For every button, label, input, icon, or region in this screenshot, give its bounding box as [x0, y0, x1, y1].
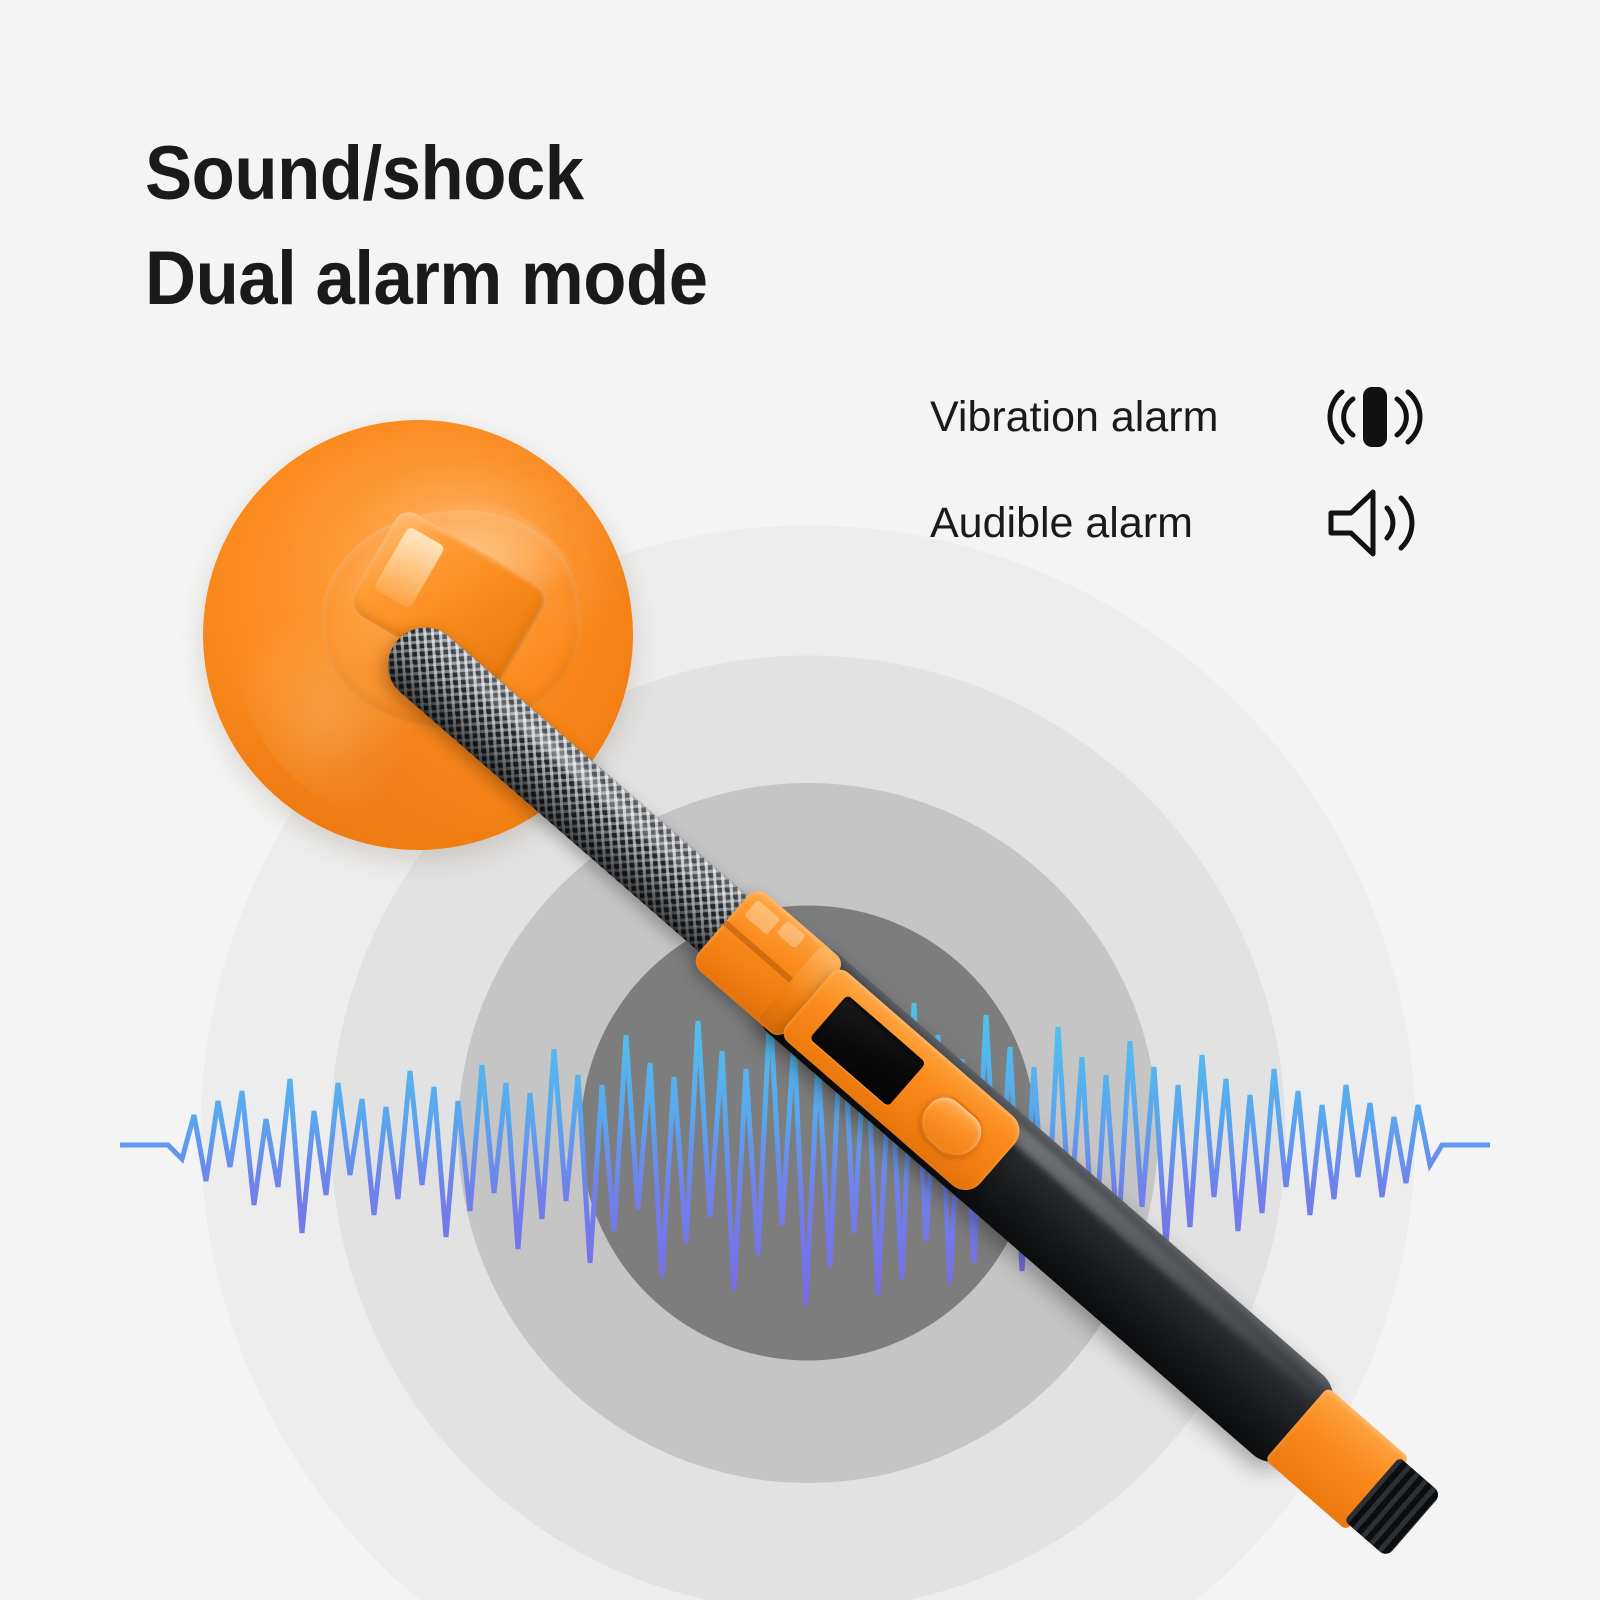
- feature-row-vibration: Vibration alarm: [930, 378, 1430, 456]
- speaker-icon: [1320, 484, 1430, 562]
- feature-label-audible: Audible alarm: [930, 499, 1320, 548]
- collar-notch-2: [777, 920, 806, 949]
- power-button[interactable]: [910, 1087, 993, 1168]
- headline-line-2: Dual alarm mode: [145, 227, 708, 332]
- feature-row-audible: Audible alarm: [930, 484, 1430, 562]
- page-title: Sound/shock Dual alarm mode: [145, 122, 708, 332]
- product-feature-banner: Sound/shock Dual alarm mode Vibration al…: [0, 0, 1600, 1600]
- feature-label-vibration: Vibration alarm: [930, 393, 1320, 442]
- feature-list: Vibration alarm Audible alarm: [930, 378, 1430, 590]
- vibration-icon: [1320, 378, 1430, 456]
- lcd-display: [809, 995, 926, 1107]
- headline-line-1: Sound/shock: [145, 122, 708, 227]
- collar-notch-1: [744, 900, 780, 936]
